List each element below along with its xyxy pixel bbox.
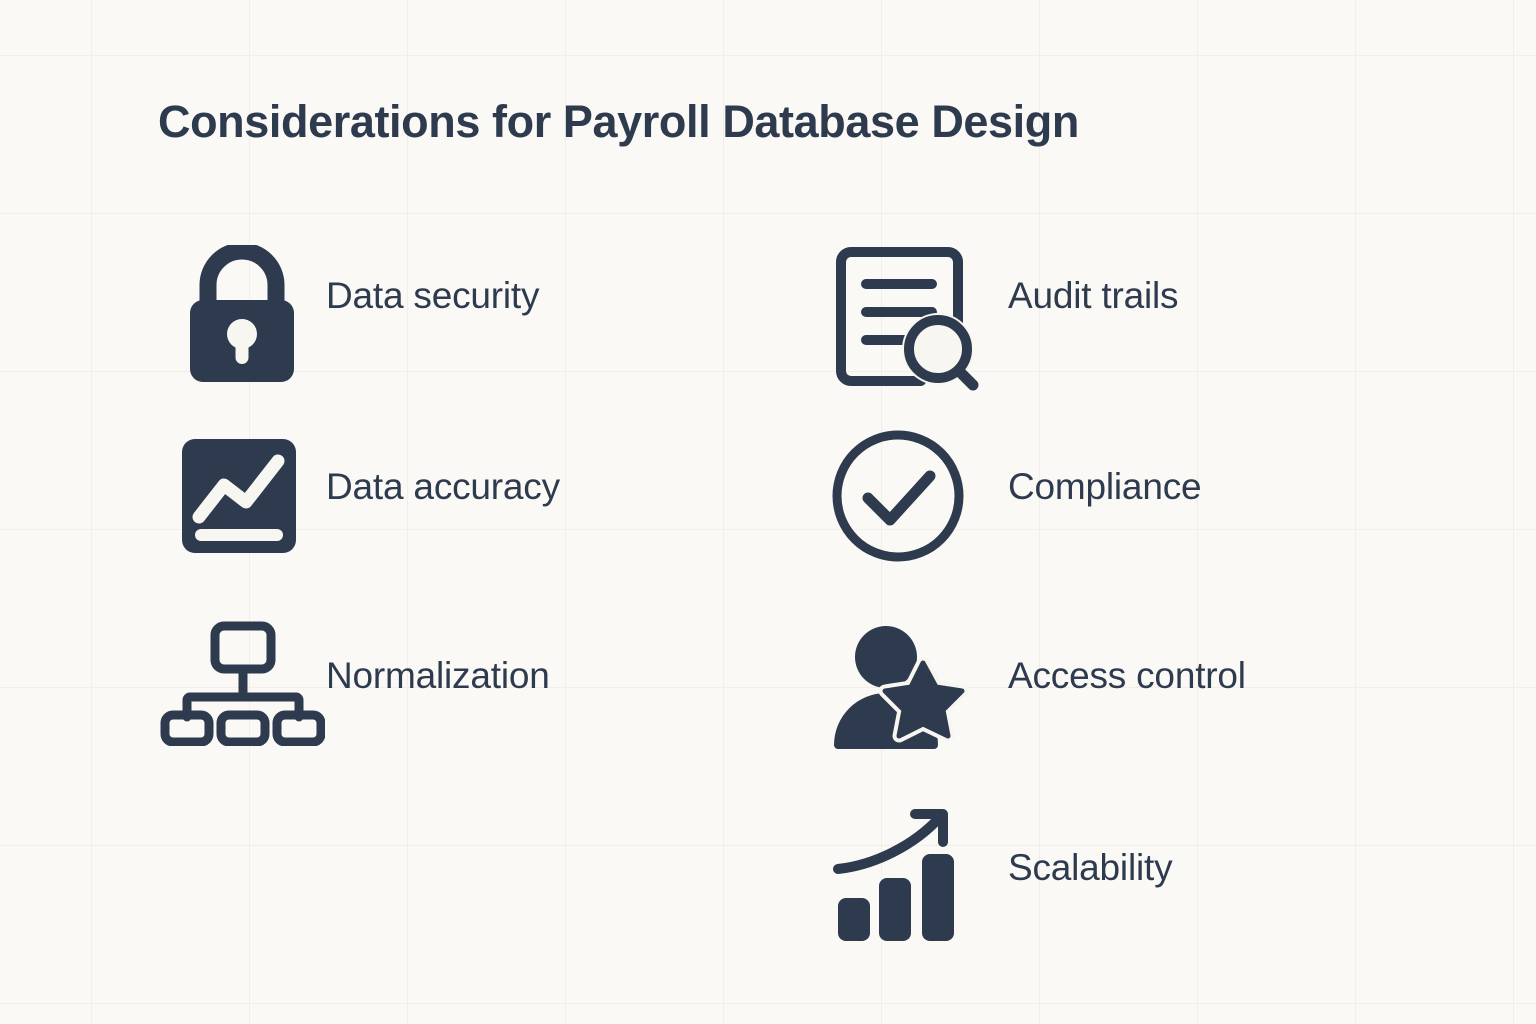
list-item-label: Compliance <box>1008 417 1201 505</box>
document-search-icon <box>828 228 996 378</box>
list-item-scalability: Scalability <box>828 795 1246 984</box>
list-item-label: Scalability <box>1008 795 1172 886</box>
list-item-label: Data security <box>326 228 539 314</box>
line-chart-icon <box>158 417 326 567</box>
list-item-access-control: Access control <box>828 606 1246 795</box>
list-item-label: Access control <box>1008 606 1246 694</box>
left-column: Data security Data accuracy <box>158 228 560 795</box>
list-item-data-security: Data security <box>158 228 560 417</box>
list-item-normalization: Normalization <box>158 606 560 795</box>
list-item-data-accuracy: Data accuracy <box>158 417 560 606</box>
list-item-audit-trails: Audit trails <box>828 228 1246 417</box>
list-item-label: Data accuracy <box>326 417 560 505</box>
list-item-compliance: Compliance <box>828 417 1246 606</box>
lock-icon <box>158 228 326 378</box>
user-star-icon <box>828 606 996 756</box>
hierarchy-icon <box>158 606 326 756</box>
list-item-label: Audit trails <box>1008 228 1178 314</box>
growth-chart-icon <box>828 795 996 945</box>
page-title: Considerations for Payroll Database Desi… <box>158 96 1079 148</box>
list-item-label: Normalization <box>326 606 550 694</box>
check-circle-icon <box>828 417 996 567</box>
infographic-canvas: Considerations for Payroll Database Desi… <box>0 0 1536 1024</box>
right-column: Audit trails Compliance Ac <box>828 228 1246 984</box>
